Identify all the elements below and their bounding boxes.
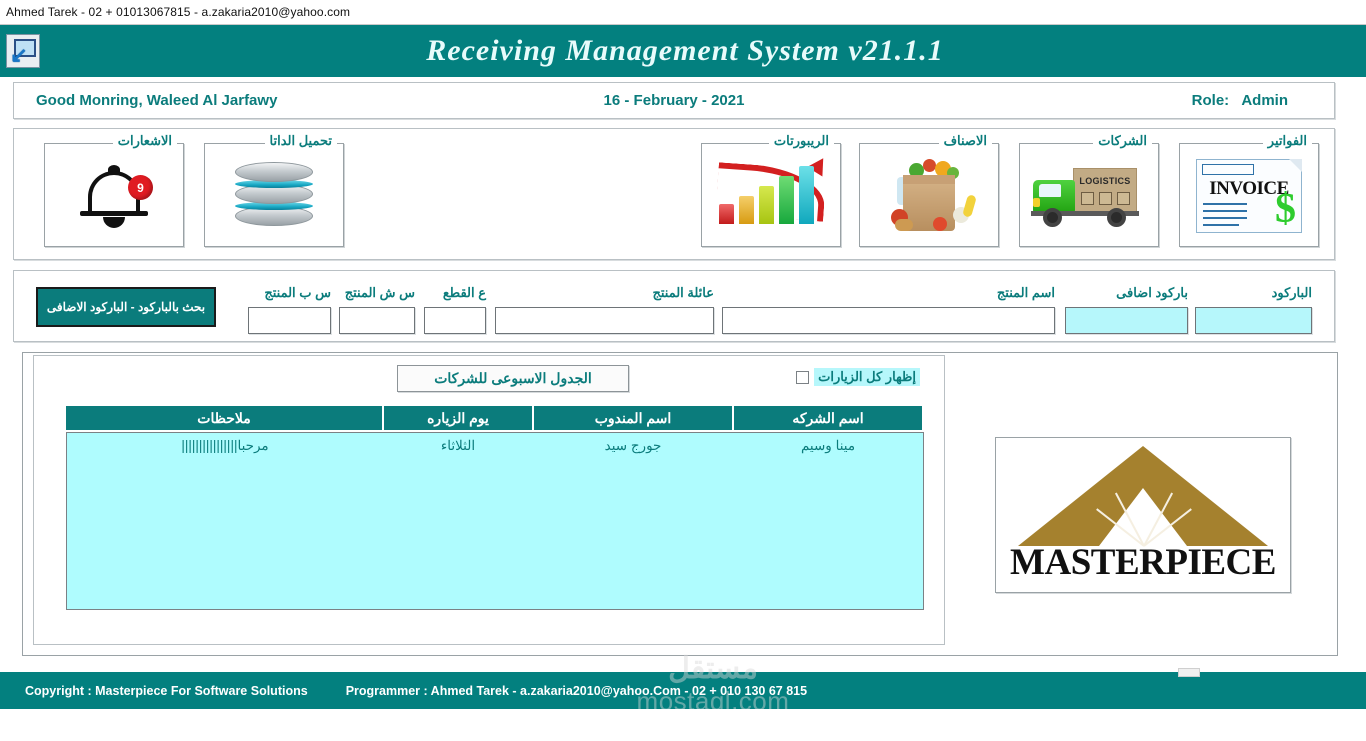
tile-reports-label: الريبورتات [769, 133, 834, 149]
page-title: Receiving Management System v21.1.1 [40, 34, 1366, 68]
column-header-rep[interactable]: اسم المندوب [532, 406, 732, 430]
field-sale-price-label: س ش المنتج [345, 285, 415, 301]
masterpiece-wordmark: MASTERPIECE [996, 541, 1290, 584]
grocery-bag-icon [860, 150, 998, 242]
greeting-message: Good Monring, Waleed Al Jarfawy [14, 92, 277, 109]
role-value: Admin [1233, 92, 1288, 109]
checkbox-box[interactable] [796, 371, 809, 384]
scrollbar-nub[interactable] [1178, 668, 1200, 677]
database-icon [205, 150, 343, 242]
product-family-input[interactable] [495, 307, 714, 334]
delivery-truck-icon: LOGISTICS [1020, 150, 1158, 242]
restore-window-arrow: ↙ [10, 46, 30, 66]
tile-companies-label: الشركات [1093, 133, 1152, 149]
weekly-schedule-button[interactable]: الجدول الاسبوعى للشركات [397, 365, 629, 392]
show-all-visits-checkbox[interactable]: إظهار كل الزيارات [796, 368, 920, 386]
extra-barcode-input[interactable] [1065, 307, 1188, 334]
field-piece-count-label: ع القطع [443, 285, 486, 301]
dollar-symbol: $ [1275, 189, 1296, 229]
masterpiece-mark-icon [1018, 446, 1268, 546]
cell-company: مينا وسيم [733, 433, 923, 459]
tile-invoices-label: الفواتير [1263, 133, 1312, 149]
column-header-notes[interactable]: ملاحظات [66, 406, 382, 430]
bell-icon: 9 [45, 150, 183, 242]
product-name-input[interactable] [722, 307, 1055, 334]
field-barcode-label: الباركود [1272, 285, 1312, 301]
field-buy-price-label: س ب المنتج [264, 285, 331, 301]
invoice-dollar-icon: INVOICE $ [1180, 150, 1318, 242]
notification-badge: 9 [128, 175, 153, 200]
main-content-panel: الجدول الاسبوعى للشركات إظهار كل الزيارا… [22, 352, 1338, 656]
tile-notifications-label: الاشعارات [113, 133, 177, 149]
buy-price-input[interactable] [248, 307, 331, 334]
tile-invoices[interactable]: الفواتير INVOICE $ [1179, 143, 1319, 247]
bar-chart-growth-icon [702, 150, 840, 242]
footer-programmer: Programmer : Ahmed Tarek - a.zakaria2010… [308, 684, 807, 698]
show-all-visits-label: إظهار كل الزيارات [814, 368, 920, 386]
tile-load-data[interactable]: تحميل الداتا [204, 143, 344, 247]
visits-panel: الجدول الاسبوعى للشركات إظهار كل الزيارا… [33, 355, 945, 645]
visits-table-body[interactable]: مينا وسيم جورج سيد الثلاثاء مرحبا|||||||… [66, 432, 924, 610]
cell-rep: جورج سيد [533, 433, 733, 459]
piece-count-input[interactable] [424, 307, 486, 334]
greeting-bar: Good Monring, Waleed Al Jarfawy 16 - Feb… [13, 82, 1335, 119]
visits-table-header: اسم الشركه اسم المندوب يوم الزياره ملاحظ… [66, 406, 922, 430]
footer-copyright: Copyright : Masterpiece For Software Sol… [0, 684, 308, 698]
barcode-input[interactable] [1195, 307, 1312, 334]
tooltip-strip: Ahmed Tarek - 02 + 01013067815 - a.zakar… [0, 0, 1366, 25]
tooltip-text: Ahmed Tarek - 02 + 01013067815 - a.zakar… [0, 5, 350, 19]
search-filter-bar: بحث بالباركود - الباركود الاضافى الباركو… [13, 270, 1335, 342]
footer-bar: Copyright : Masterpiece For Software Sol… [0, 672, 1366, 709]
field-extra-barcode-label: باركود اضافى [1116, 285, 1188, 301]
cell-notes: مرحبا|||||||||||||||| [67, 433, 383, 459]
title-bar: ↙ Receiving Management System v21.1.1 [0, 25, 1366, 77]
barcode-search-button[interactable]: بحث بالباركود - الباركود الاضافى [36, 287, 216, 327]
tile-items[interactable]: الاصناف [859, 143, 999, 247]
field-product-family-label: عائلة المنتج [652, 285, 714, 301]
page-bottom-fill [0, 709, 1366, 741]
column-header-visit-day[interactable]: يوم الزياره [382, 406, 532, 430]
tile-load-data-label: تحميل الداتا [265, 133, 338, 149]
role-display: Role: Admin [1192, 92, 1334, 109]
tile-companies[interactable]: الشركات LOGISTICS [1019, 143, 1159, 247]
shortcut-tiles-panel: الفواتير INVOICE $ الشركات LOGISTICS [13, 128, 1335, 260]
role-label: Role: [1192, 92, 1230, 109]
tile-items-label: الاصناف [939, 133, 992, 149]
tile-notifications[interactable]: الاشعارات 9 [44, 143, 184, 247]
cell-visit-day: الثلاثاء [383, 433, 533, 459]
sale-price-input[interactable] [339, 307, 415, 334]
tile-reports[interactable]: الريبورتات [701, 143, 841, 247]
truck-box-label: LOGISTICS [1075, 176, 1135, 186]
column-header-company[interactable]: اسم الشركه [732, 406, 922, 430]
table-row[interactable]: مينا وسيم جورج سيد الثلاثاء مرحبا|||||||… [67, 433, 923, 459]
field-product-name-label: اسم المنتج [997, 285, 1055, 301]
masterpiece-logo: MASTERPIECE [995, 437, 1291, 593]
restore-window-icon[interactable]: ↙ [6, 34, 40, 68]
